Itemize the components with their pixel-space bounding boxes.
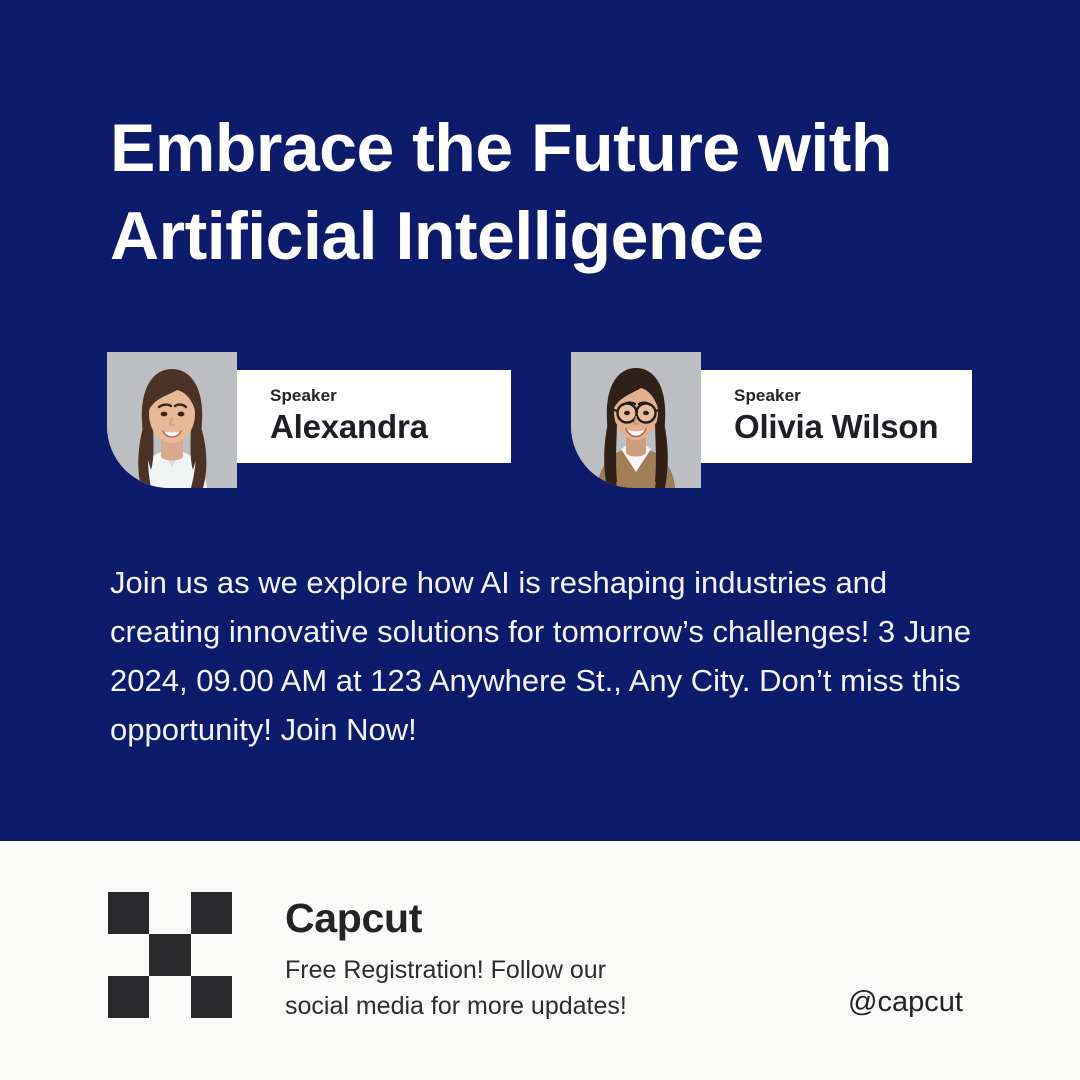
speaker-card: Speaker Alexandra [107,352,511,488]
brand-name: Capcut [285,894,422,942]
logo-cell [149,976,190,1018]
avatar [571,352,701,488]
event-description: Join us as we explore how AI is reshapin… [110,558,990,754]
logo-cell [108,892,149,934]
speaker-card: Speaker Olivia Wilson [571,352,972,488]
speaker-role-label: Speaker [270,386,511,406]
hero-panel: Embrace the Future with Artificial Intel… [0,0,1080,841]
logo-cell [191,892,232,934]
checkerboard-logo-icon [108,892,232,1018]
logo-cell [191,934,232,976]
speaker-name: Alexandra [270,407,511,447]
social-handle: @capcut [848,985,963,1019]
speaker-name: Olivia Wilson [734,407,972,447]
speaker-list: Speaker Alexandra [0,352,1080,492]
speaker-role-label: Speaker [734,386,972,406]
speaker-name-plate: Speaker Olivia Wilson [701,370,972,463]
brand-tagline: Free Registration! Follow our social med… [285,952,755,1024]
page-title: Embrace the Future with Artificial Intel… [110,104,1010,280]
logo-cell [191,976,232,1018]
logo-cell [149,892,190,934]
avatar [107,352,237,488]
logo-cell [149,934,190,976]
speaker-name-plate: Speaker Alexandra [237,370,511,463]
logo-cell [108,934,149,976]
logo-cell [108,976,149,1018]
event-poster: Embrace the Future with Artificial Intel… [0,0,1080,1080]
